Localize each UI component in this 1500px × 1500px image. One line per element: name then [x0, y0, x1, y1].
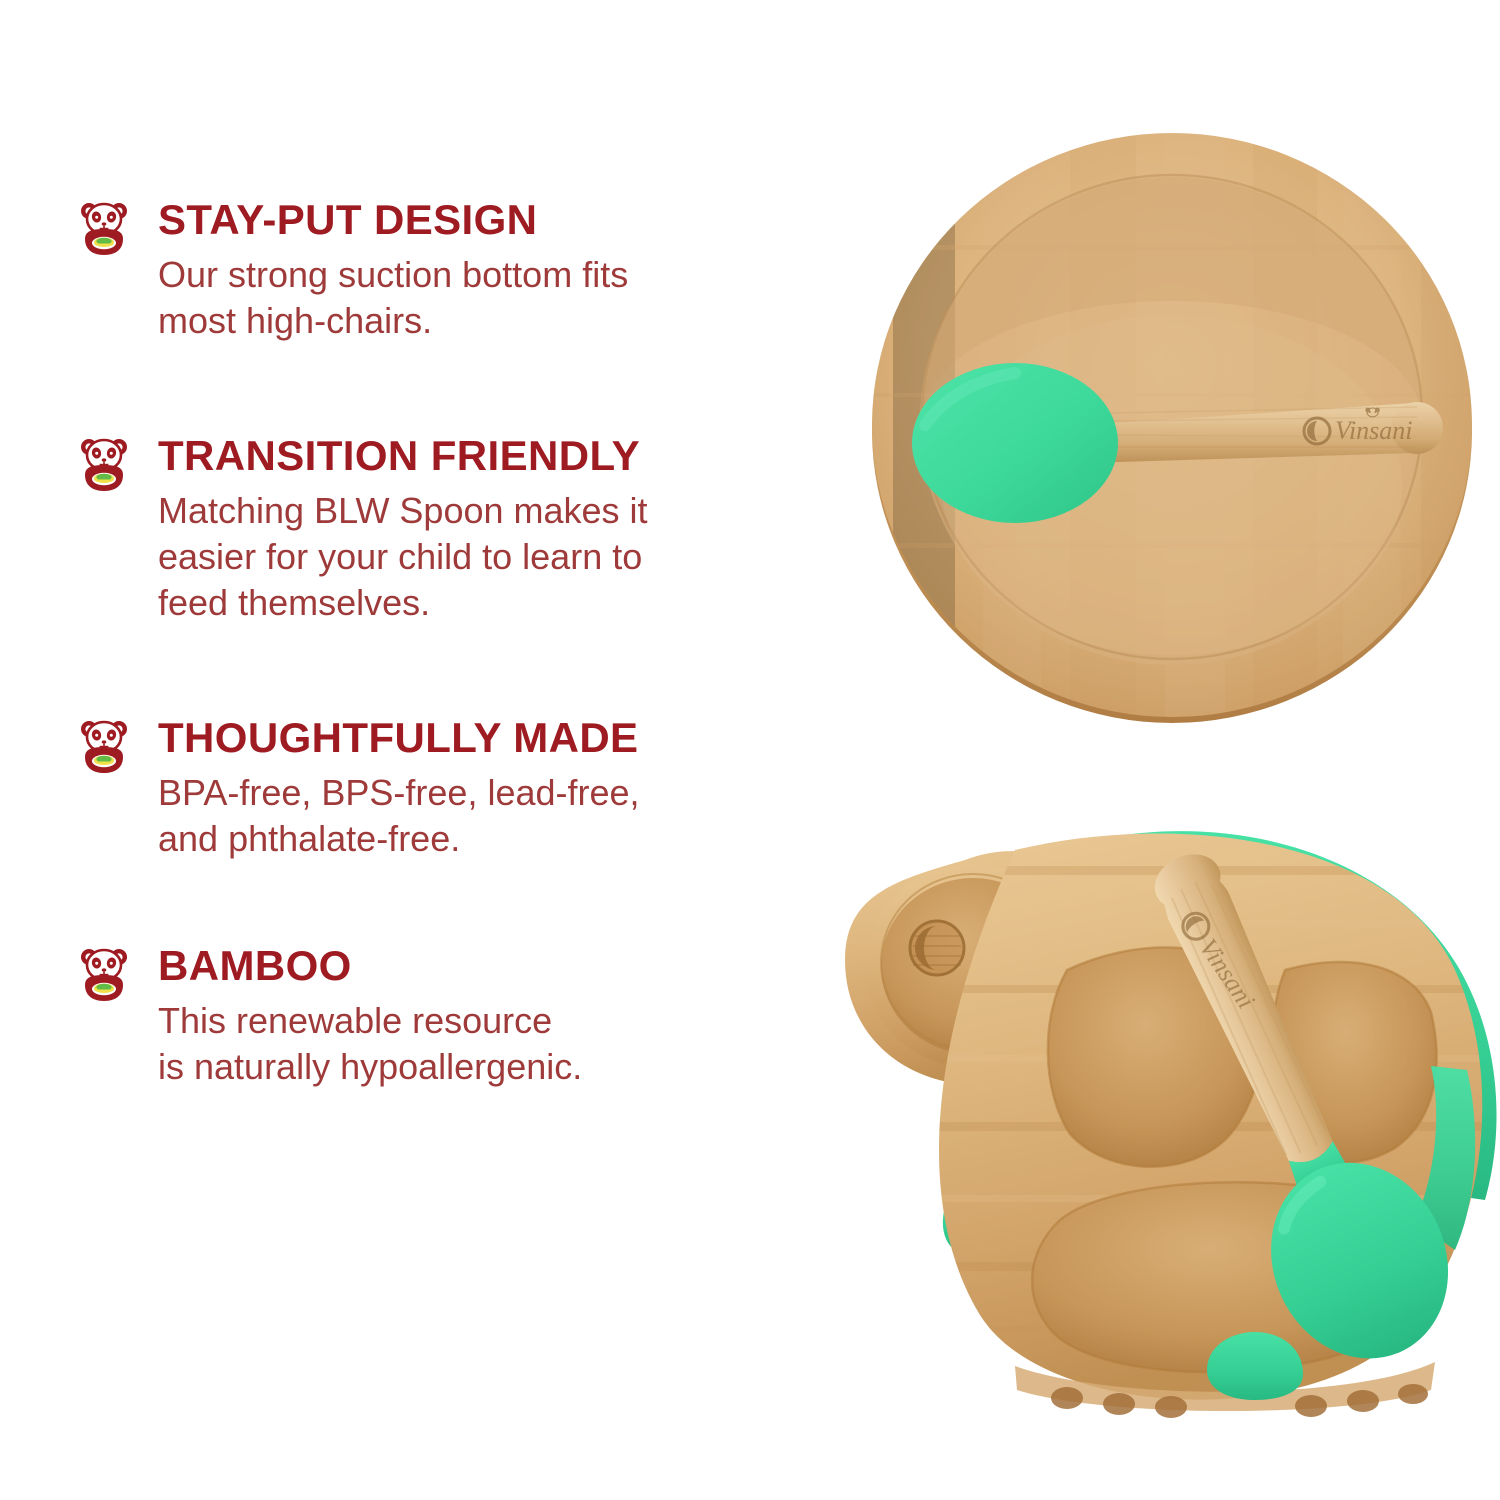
panda-icon: [78, 948, 130, 1002]
feature-body: BPA-free, BPS-free, lead-free, and phtha…: [158, 770, 778, 862]
panda-icon: [78, 438, 130, 492]
feature-item-thoughtfully-made: THOUGHTFULLY MADE BPA-free, BPS-free, le…: [78, 714, 778, 862]
feature-body: This renewable resource is naturally hyp…: [158, 998, 778, 1090]
feature-item-bamboo: BAMBOO This renewable resource is natura…: [78, 942, 778, 1090]
feature-body: Our strong suction bottom fits most high…: [158, 252, 778, 344]
panda-icon: [78, 202, 130, 256]
product-image-round-bowl: Vinsani: [865, 125, 1480, 725]
feature-body: Matching BLW Spoon makes it easier for y…: [158, 488, 778, 626]
infographic-page: STAY-PUT DESIGN Our strong suction botto…: [0, 0, 1500, 1500]
feature-title: TRANSITION FRIENDLY: [158, 432, 778, 480]
feature-title: STAY-PUT DESIGN: [158, 196, 778, 244]
feature-title: THOUGHTFULLY MADE: [158, 714, 778, 762]
feature-title: BAMBOO: [158, 942, 778, 990]
spoon-silicone-head: [912, 363, 1118, 523]
feature-item-stay-put-design: STAY-PUT DESIGN Our strong suction botto…: [78, 196, 778, 344]
engraved-eye-logo: [910, 921, 964, 975]
feature-list: STAY-PUT DESIGN Our strong suction botto…: [78, 196, 778, 1090]
panda-icon: [78, 720, 130, 774]
feature-item-transition-friendly: TRANSITION FRIENDLY Matching BLW Spoon m…: [78, 432, 778, 626]
product-image-turtle-plate: Vinsani: [715, 770, 1500, 1410]
svg-text:Vinsani: Vinsani: [1335, 416, 1413, 445]
